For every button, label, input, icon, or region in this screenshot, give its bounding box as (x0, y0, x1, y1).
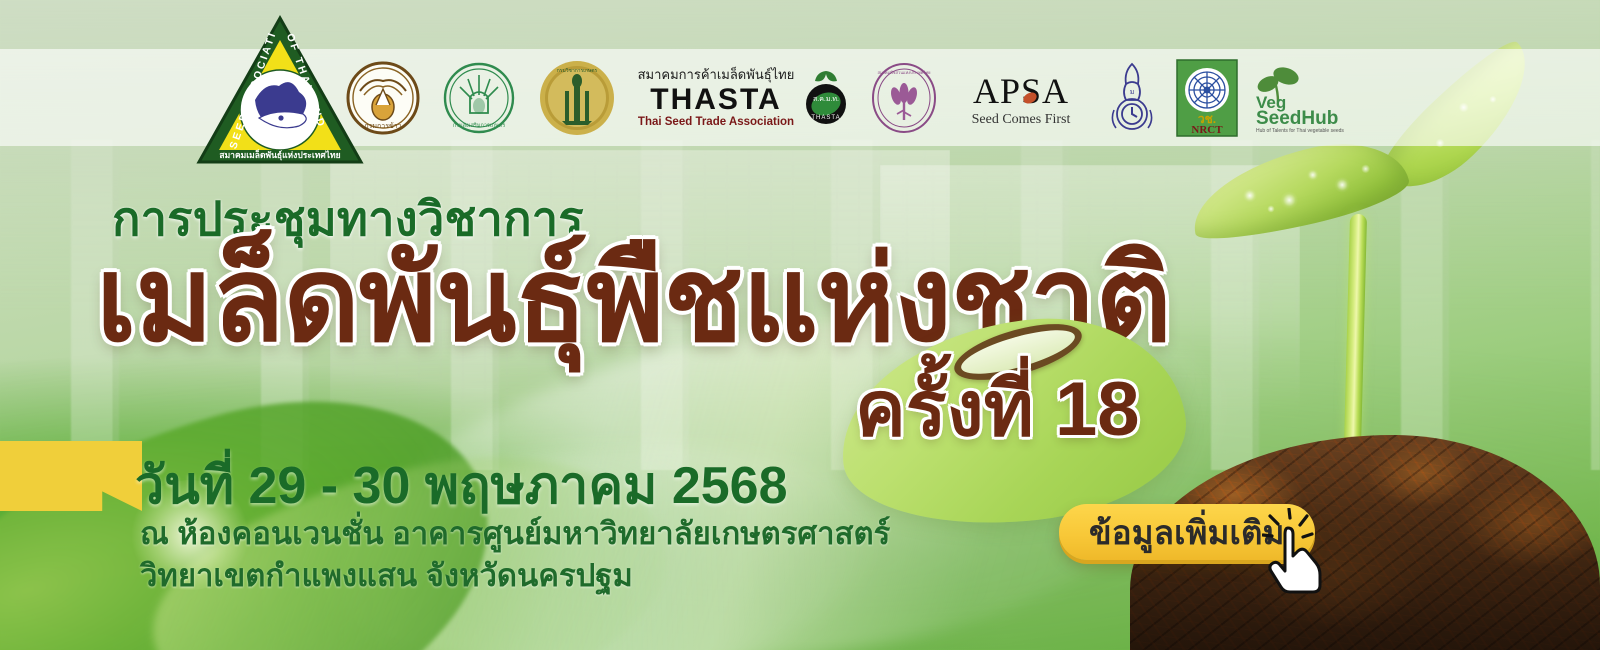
yellow-ribbon-accent (0, 441, 142, 511)
more-information-label: ข้อมูลเพิ่มเติม (1089, 506, 1285, 559)
edition-text: ครั้งที่ 18 (855, 372, 1140, 448)
more-information-button[interactable]: ข้อมูลเพิ่มเติม (1059, 504, 1315, 560)
venue-line-2: วิทยาเขตกำแพงแสน จังหวัดนครปฐม (140, 556, 890, 596)
venue-line-1: ณ ห้องคอนเวนชั่น อาคารศูนย์มหาวิทยาลัยเก… (140, 514, 890, 554)
conference-banner: KU คณะเกษตร กำแพงแสน กรมการข้าว (0, 0, 1600, 650)
event-venue: ณ ห้องคอนเวนชั่น อาคารศูนย์มหาวิทยาลัยเก… (140, 514, 890, 597)
banner-copy: การประชุมทางวิชาการ เมล็ดพันธุ์พืชแห่งชา… (0, 0, 1600, 650)
